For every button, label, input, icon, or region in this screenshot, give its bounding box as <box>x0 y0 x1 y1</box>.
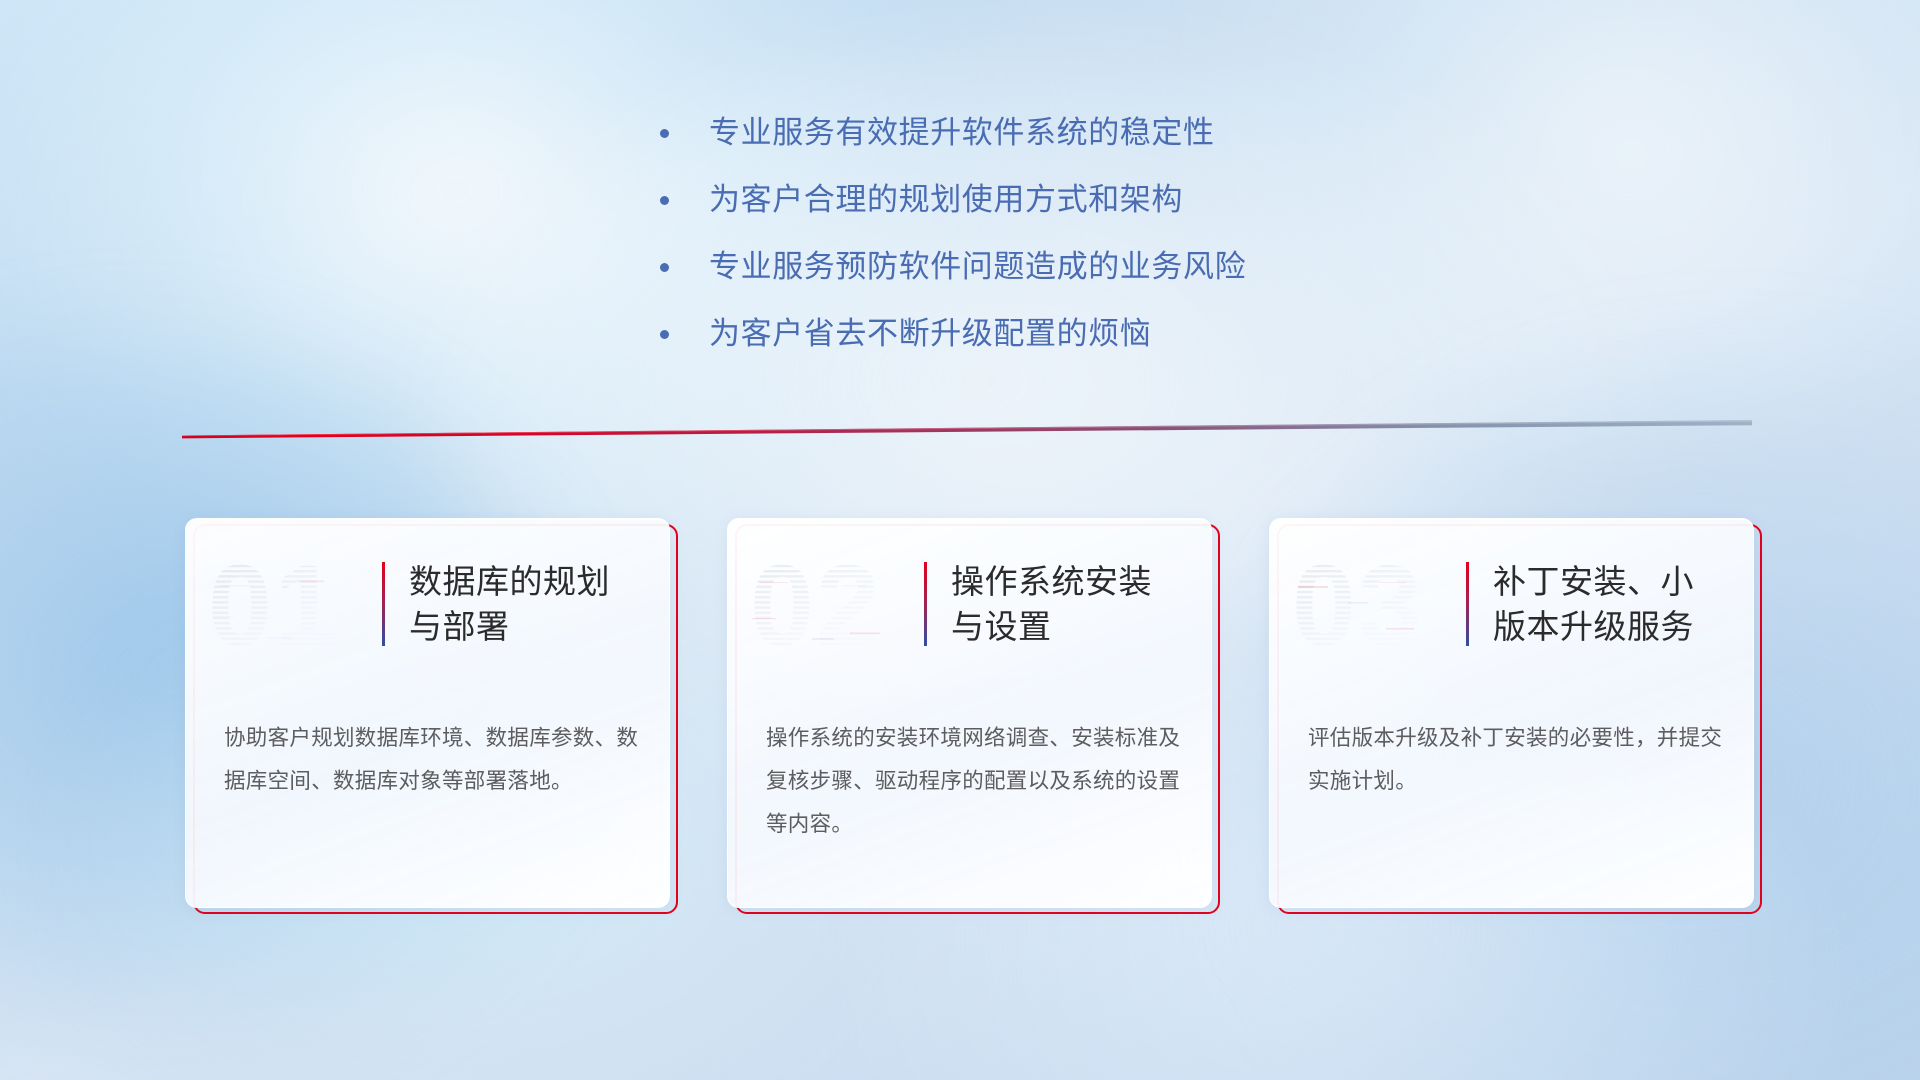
bullet-text: 专业服务有效提升软件系统的稳定性 <box>709 112 1215 154</box>
bullet-dot-icon <box>660 196 669 205</box>
svg-text:01: 01 <box>208 544 340 664</box>
card-description: 评估版本升级及补丁安装的必要性，并提交实施计划。 <box>1308 717 1723 803</box>
bullet-text: 专业服务预防软件问题造成的业务风险 <box>709 246 1246 288</box>
bullet-dot-icon <box>660 263 669 272</box>
service-card-02[interactable]: 02 <box>727 518 1212 908</box>
card-description: 操作系统的安装环境网络调查、安装标准及复核步骤、驱动程序的配置以及系统的设置等内… <box>766 717 1181 846</box>
ghost-number-03-icon: 03 <box>1288 544 1466 664</box>
service-card-03[interactable]: 03 <box>1269 518 1754 908</box>
section-divider <box>182 420 1752 442</box>
bullet-text: 为客户合理的规划使用方式和架构 <box>709 179 1183 221</box>
card-title: 补丁安装、小 版本升级服务 <box>1493 559 1694 649</box>
slide-canvas: 专业服务有效提升软件系统的稳定性 为客户合理的规划使用方式和架构 专业服务预防软… <box>0 0 1920 1080</box>
ghost-number-02-icon: 02 <box>746 544 924 664</box>
card-description: 协助客户规划数据库环境、数据库参数、数据库空间、数据库对象等部署落地。 <box>224 717 639 803</box>
bullet-text: 为客户省去不断升级配置的烦恼 <box>709 313 1151 355</box>
bullet-dot-icon <box>660 330 669 339</box>
divider-wedge-icon <box>182 420 1752 442</box>
card-surface: 01 <box>185 518 670 908</box>
service-card-01[interactable]: 01 <box>185 518 670 908</box>
card-surface: 03 <box>1269 518 1754 908</box>
list-item: 为客户省去不断升级配置的烦恼 <box>660 313 1440 355</box>
list-item: 专业服务有效提升软件系统的稳定性 <box>660 112 1440 154</box>
card-title-accent-bar <box>924 562 927 646</box>
benefits-bullet-list: 专业服务有效提升软件系统的稳定性 为客户合理的规划使用方式和架构 专业服务预防软… <box>660 112 1440 355</box>
card-title: 操作系统安装 与设置 <box>951 559 1152 649</box>
list-item: 专业服务预防软件问题造成的业务风险 <box>660 246 1440 288</box>
ghost-number-01-icon: 01 <box>204 544 382 664</box>
card-header: 03 <box>1270 539 1753 669</box>
card-title: 数据库的规划 与部署 <box>409 559 610 649</box>
bullet-dot-icon <box>660 129 669 138</box>
card-surface: 02 <box>727 518 1212 908</box>
service-card-grid: 01 <box>185 518 1754 908</box>
list-item: 为客户合理的规划使用方式和架构 <box>660 179 1440 221</box>
card-title-accent-bar <box>1466 562 1469 646</box>
card-header: 02 <box>728 539 1211 669</box>
card-title-accent-bar <box>382 562 385 646</box>
card-header: 01 <box>186 539 669 669</box>
